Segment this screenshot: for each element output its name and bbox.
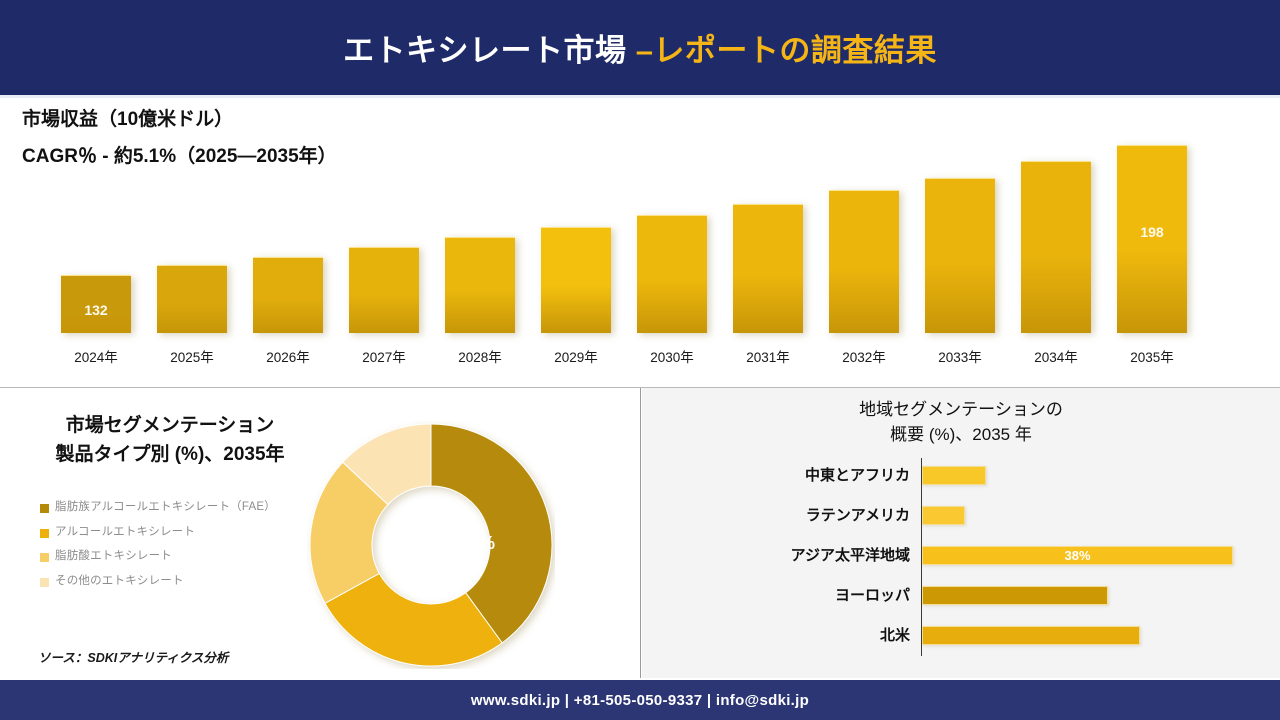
legend-item-label: 脂肪族アルコールエトキシレート（FAE） xyxy=(55,500,276,516)
revenue-bar-column: 2033年 xyxy=(912,98,1008,388)
revenue-bar-column: 1982035年 xyxy=(1104,98,1200,388)
revenue-bar-column: 1322024年 xyxy=(48,98,144,388)
revenue-bar-column: 2031年 xyxy=(720,98,816,388)
region-label: 中東とアフリカ xyxy=(642,464,910,485)
revenue-bar xyxy=(637,215,707,333)
revenue-bar xyxy=(925,178,995,333)
revenue-bar-label: 2031年 xyxy=(720,346,816,366)
revenue-bar xyxy=(445,237,515,333)
source-note: ソース：SDKIアナリティクス分析 xyxy=(38,647,228,666)
revenue-bar-column: 2029年 xyxy=(528,98,624,388)
legend-item[interactable]: アルコールエトキシレート xyxy=(40,525,300,541)
revenue-bar-column: 2030年 xyxy=(624,98,720,388)
revenue-bar-label: 2025年 xyxy=(144,346,240,366)
revenue-bar-label: 2026年 xyxy=(240,346,336,366)
footer-contact: www.sdki.jp | +81-505-050-9337 | info@sd… xyxy=(471,692,809,709)
region-bar-chart: 中東とアフリカラテンアメリカアジア太平洋地域38%ヨーロッパ北米 xyxy=(642,456,1280,666)
legend-swatch-icon xyxy=(40,553,49,562)
region-segmentation-panel: 地域セグメンテーションの 概要 (%)、2035 年 中東とアフリカラテンアメリ… xyxy=(642,388,1280,678)
region-row: 北米 xyxy=(642,616,1280,656)
legend-item-label: アルコールエトキシレート xyxy=(55,525,195,541)
revenue-bar-label: 2028年 xyxy=(432,346,528,366)
region-title: 地域セグメンテーションの 概要 (%)、2035 年 xyxy=(642,398,1280,447)
region-label: ヨーロッパ xyxy=(642,584,910,605)
region-row: ラテンアメリカ xyxy=(642,496,1280,536)
revenue-bar-column: 2026年 xyxy=(240,98,336,388)
revenue-bar xyxy=(157,265,227,333)
legend-item-label: 脂肪酸エトキシレート xyxy=(55,549,172,565)
region-title-line-1: 地域セグメンテーションの xyxy=(642,398,1280,423)
revenue-bar-label: 2032年 xyxy=(816,346,912,366)
segmentation-title-line-2: 製品タイプ別 (%)、2035年 xyxy=(20,441,320,470)
segmentation-title-line-1: 市場セグメンテーション xyxy=(20,412,320,441)
revenue-bars: 1322024年2025年2026年2027年2028年2029年2030年20… xyxy=(0,98,1280,388)
region-bar-value: 38% xyxy=(922,546,1233,565)
revenue-bar-label: 2033年 xyxy=(912,346,1008,366)
revenue-bar-column: 2028年 xyxy=(432,98,528,388)
page-footer: www.sdki.jp | +81-505-050-9337 | info@sd… xyxy=(0,678,1280,720)
revenue-bar-label: 2027年 xyxy=(336,346,432,366)
revenue-bar-column: 2027年 xyxy=(336,98,432,388)
revenue-bar: 132 xyxy=(61,275,131,333)
page-title-main: エトキシレート市場 xyxy=(343,33,636,68)
legend-swatch-icon xyxy=(40,578,49,587)
legend-item[interactable]: 脂肪族アルコールエトキシレート（FAE） xyxy=(40,500,300,516)
legend-item[interactable]: その他のエトキシレート xyxy=(40,574,300,590)
revenue-bar-column: 2025年 xyxy=(144,98,240,388)
revenue-bar xyxy=(1021,161,1091,333)
revenue-bar-label: 2029年 xyxy=(528,346,624,366)
product-segmentation-panel: 市場セグメンテーション 製品タイプ別 (%)、2035年 脂肪族アルコールエトキ… xyxy=(0,388,641,678)
segmentation-donut-chart: 40% xyxy=(307,421,555,669)
region-label: アジア太平洋地域 xyxy=(642,544,910,565)
revenue-bar: 198 xyxy=(1117,145,1187,333)
region-label: 北米 xyxy=(642,624,910,645)
revenue-bar xyxy=(253,257,323,333)
donut-center-percentage: 40% xyxy=(459,533,495,554)
market-revenue-chart: 市場収益（10億米ドル） CAGR％ - 約5.1%（2025―2035年） 1… xyxy=(0,98,1280,388)
region-row: ヨーロッパ xyxy=(642,576,1280,616)
segmentation-legend: 脂肪族アルコールエトキシレート（FAE）アルコールエトキシレート脂肪酸エトキシレ… xyxy=(40,500,300,598)
region-row: 中東とアフリカ xyxy=(642,456,1280,496)
region-row: アジア太平洋地域38% xyxy=(642,536,1280,576)
revenue-bar xyxy=(829,190,899,333)
revenue-bar-label: 2030年 xyxy=(624,346,720,366)
revenue-bar-column: 2032年 xyxy=(816,98,912,388)
region-bar[interactable] xyxy=(922,466,986,485)
legend-swatch-icon xyxy=(40,504,49,513)
legend-item[interactable]: 脂肪酸エトキシレート xyxy=(40,549,300,565)
region-bar[interactable] xyxy=(922,506,965,525)
revenue-bar-value: 198 xyxy=(1117,224,1187,240)
donut-svg xyxy=(307,421,555,669)
revenue-bar-column: 2034年 xyxy=(1008,98,1104,388)
region-bar[interactable] xyxy=(922,626,1140,645)
region-label: ラテンアメリカ xyxy=(642,504,910,525)
revenue-bar xyxy=(733,204,803,333)
revenue-bar xyxy=(349,247,419,333)
revenue-bar-value: 132 xyxy=(61,302,131,318)
legend-swatch-icon xyxy=(40,529,49,538)
region-bar[interactable] xyxy=(922,586,1108,605)
legend-item-label: その他のエトキシレート xyxy=(55,574,184,590)
revenue-bar-label: 2035年 xyxy=(1104,346,1200,366)
revenue-bar-label: 2034年 xyxy=(1008,346,1104,366)
page-header: エトキシレート市場 –レポートの調査結果 xyxy=(0,0,1280,98)
revenue-bar xyxy=(541,227,611,333)
revenue-bar-label: 2024年 xyxy=(48,346,144,366)
bottom-panels: 市場セグメンテーション 製品タイプ別 (%)、2035年 脂肪族アルコールエトキ… xyxy=(0,388,1280,678)
segmentation-title: 市場セグメンテーション 製品タイプ別 (%)、2035年 xyxy=(20,412,320,469)
region-title-line-2: 概要 (%)、2035 年 xyxy=(642,423,1280,448)
page-title: エトキシレート市場 –レポートの調査結果 xyxy=(343,25,937,70)
page-title-accent: –レポートの調査結果 xyxy=(636,33,937,68)
